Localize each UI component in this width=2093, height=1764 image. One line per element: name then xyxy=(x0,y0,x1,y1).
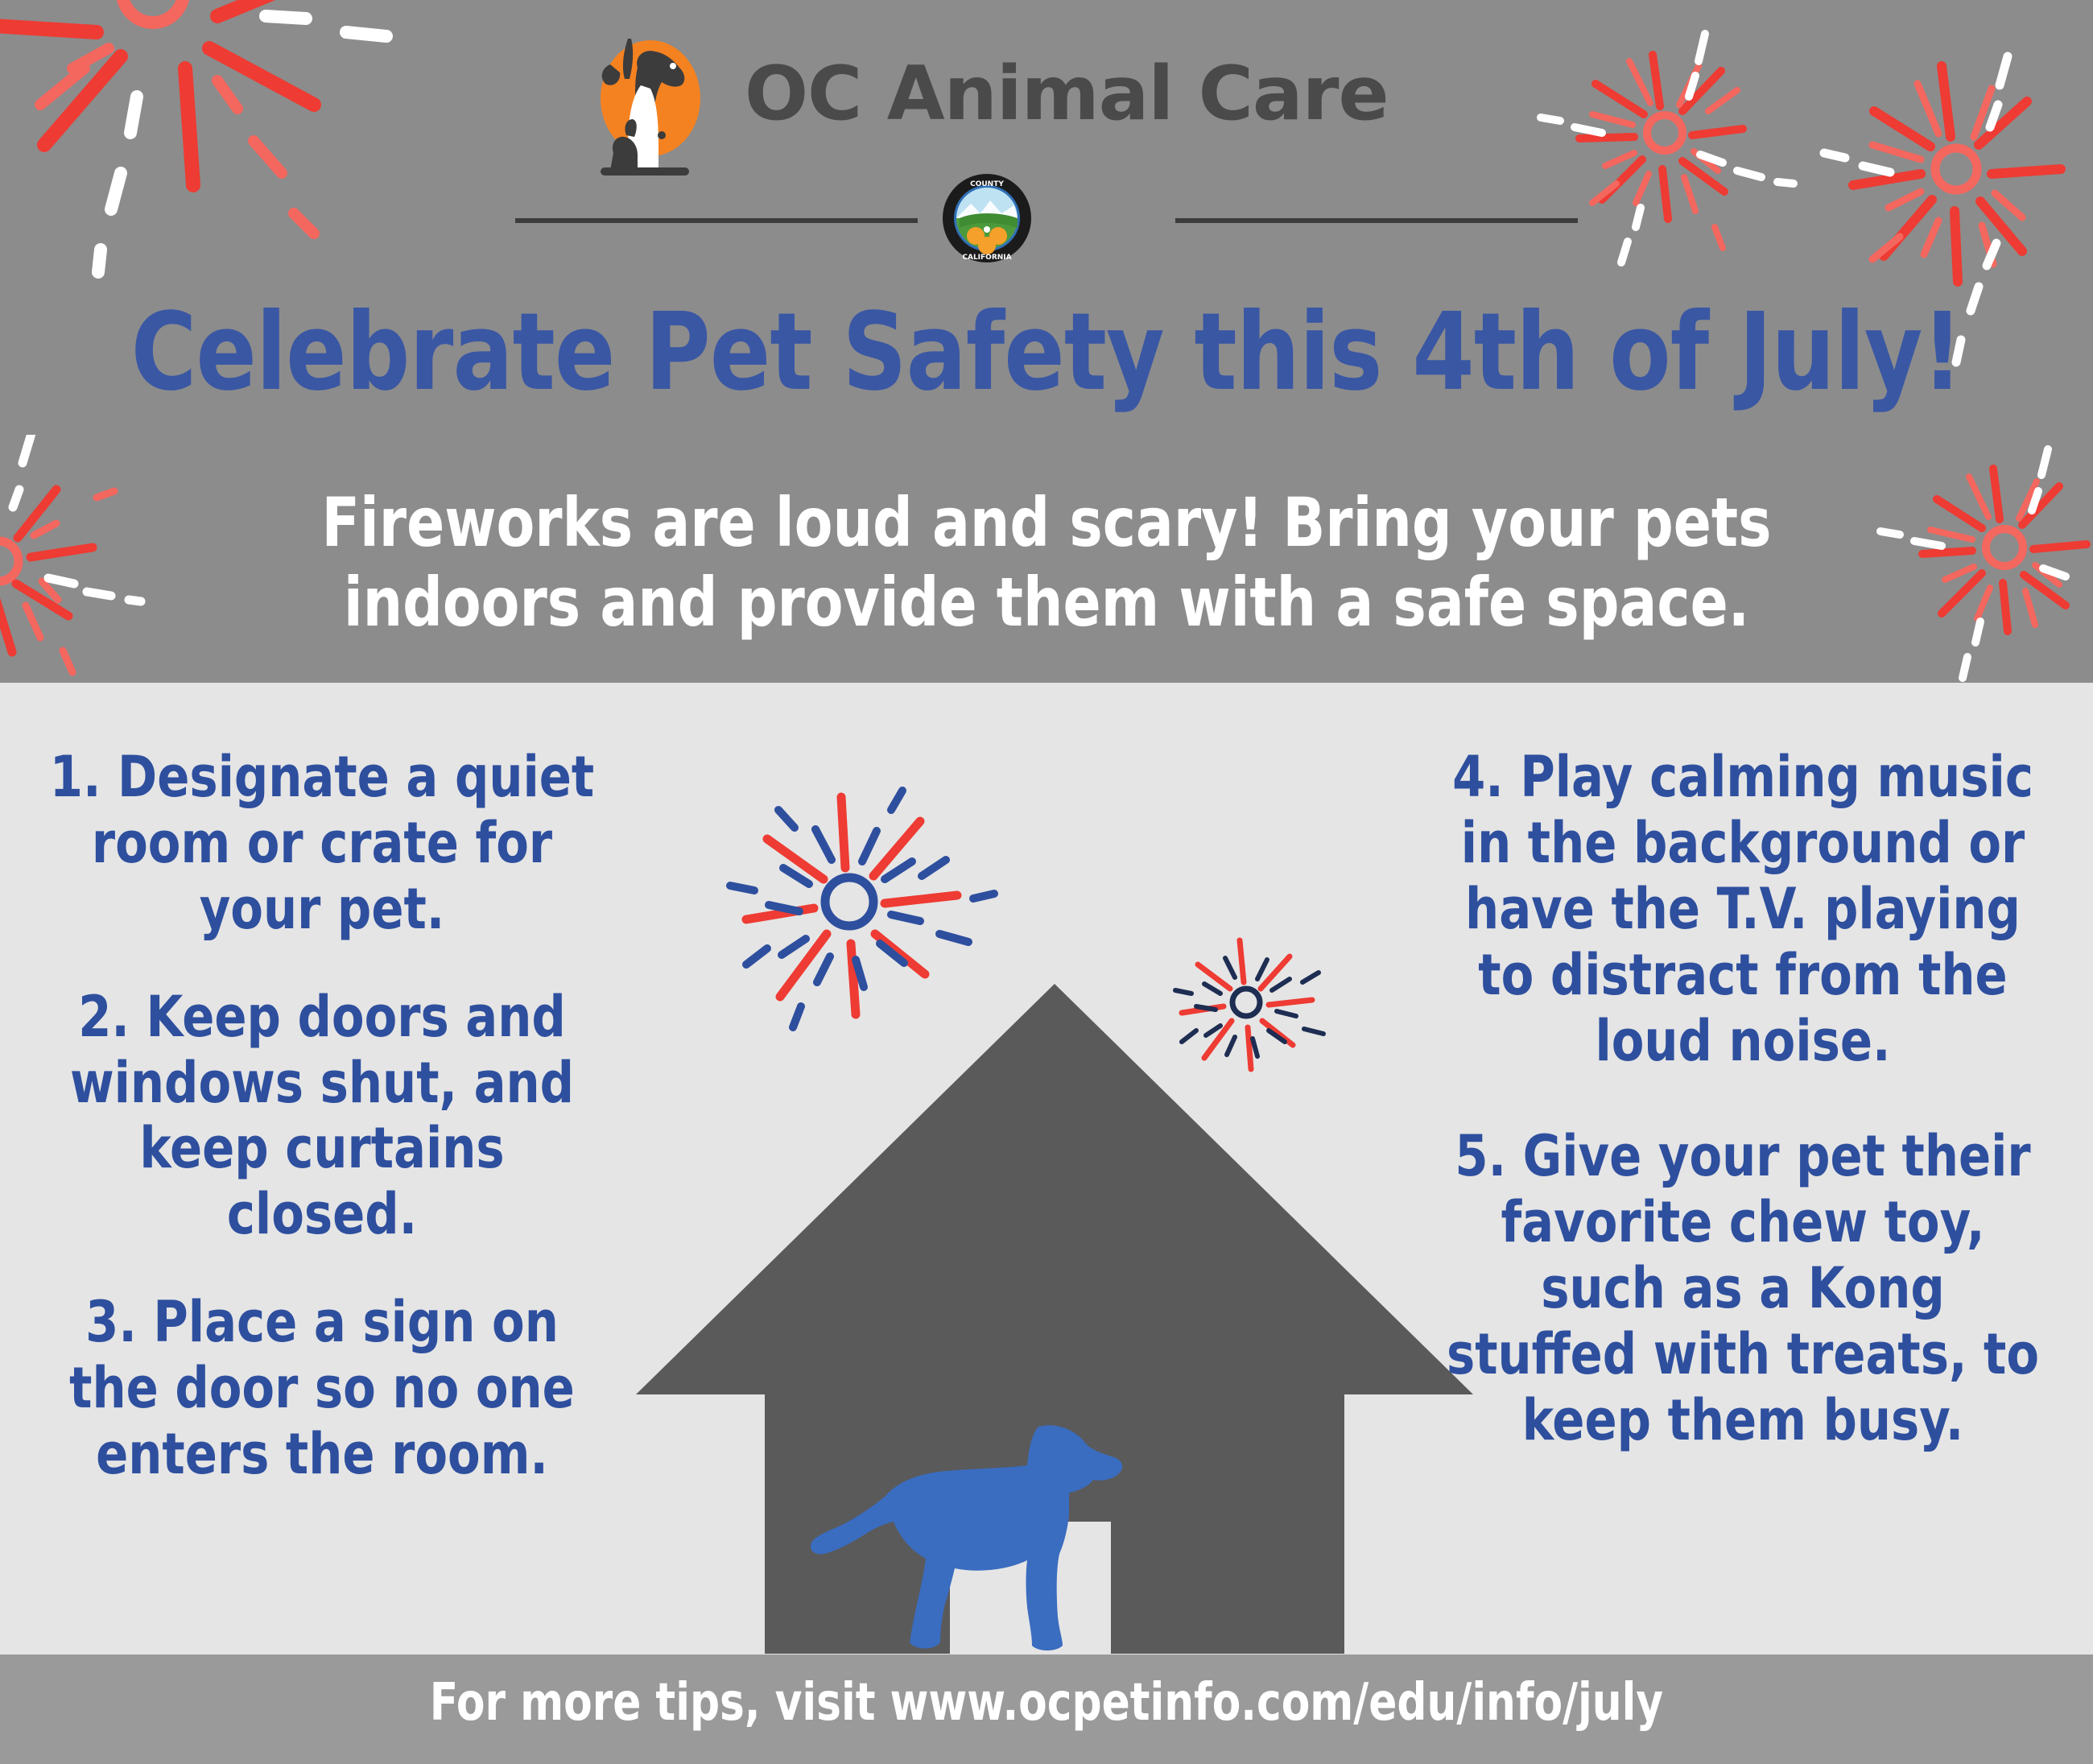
tips-column-left: 1. Designate a quiet room or crate for y… xyxy=(32,745,612,1488)
firework-burst-icon xyxy=(0,435,209,725)
tip-item: 1. Designate a quiet room or crate for y… xyxy=(50,745,595,943)
tip-item: 4. Play calming music in the background … xyxy=(1444,745,2042,1074)
seal-row: COUNTY CALIFORNIA xyxy=(515,173,1578,266)
svg-text:CALIFORNIA: CALIFORNIA xyxy=(962,254,1011,262)
infographic-poster: OC Animal Care COUNTY CALIFORNIA Celebra… xyxy=(0,0,2093,1764)
divider-right xyxy=(1175,218,1578,223)
logo: OC Animal Care xyxy=(563,24,1529,185)
subtitle: Fireworks are loud and scary! Bring your… xyxy=(306,483,1787,642)
tip-item: 2. Keep doors and windows shut, and keep… xyxy=(50,985,595,1249)
dog-cat-rabbit-silhouette-icon xyxy=(563,32,724,185)
dog-silhouette-icon xyxy=(797,1401,1135,1659)
county-of-orange-california-seal-icon: COUNTY CALIFORNIA xyxy=(942,173,1032,263)
page-title: Celebrate Pet Safety this 4th of July! xyxy=(73,300,2020,407)
tip-item: 3. Place a sign on the door so no one en… xyxy=(50,1290,595,1488)
divider-left xyxy=(515,218,918,223)
footer-link[interactable]: For more tips, visit www.ocpetinfo.com/e… xyxy=(105,1673,1988,1733)
org-name: OC Animal Care xyxy=(745,50,1389,137)
firework-burst-icon xyxy=(1851,427,2093,692)
tip-item: 5. Give your pet their favorite chew toy… xyxy=(1444,1124,2042,1453)
svg-text:COUNTY: COUNTY xyxy=(970,180,1004,188)
tips-column-right: 4. Play calming music in the background … xyxy=(1425,745,2061,1504)
